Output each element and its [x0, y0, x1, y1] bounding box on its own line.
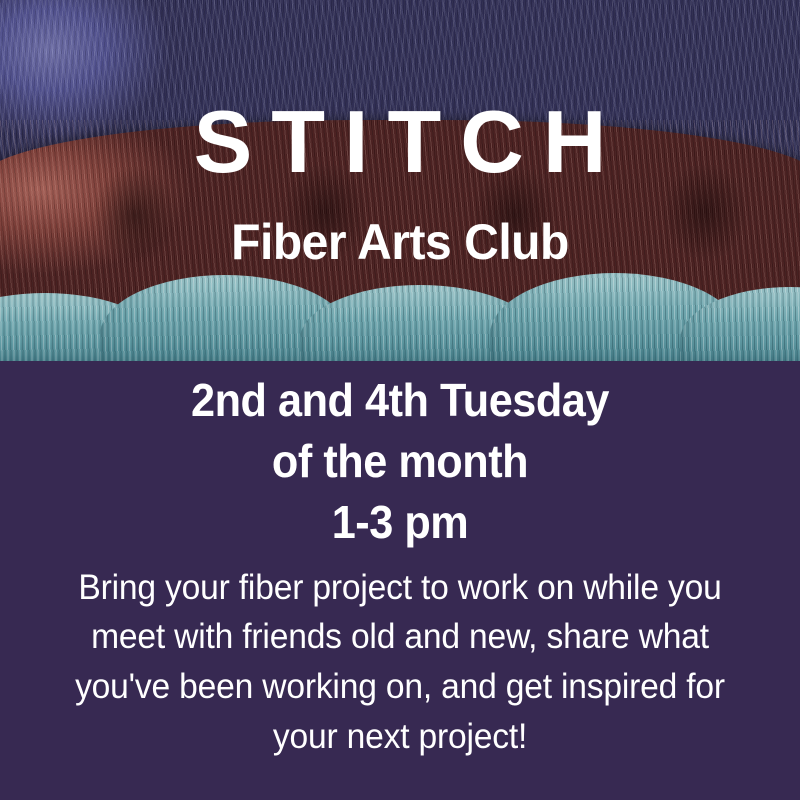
yarn-skein-teal	[680, 287, 800, 361]
description-text: Bring your fiber project to work on whil…	[16, 554, 784, 762]
schedule-list: 2nd and 4th Tuesday of the month 1-3 pm	[24, 361, 776, 554]
yarn-skeins-teal	[0, 278, 800, 361]
schedule-line-time: 1-3 pm	[24, 492, 776, 553]
poster-subtitle: Fiber Arts Club	[16, 215, 784, 270]
schedule-line-month: of the month	[24, 431, 776, 492]
poster: STITCH Fiber Arts Club 2nd and 4th Tuesd…	[0, 0, 800, 800]
schedule-line-days: 2nd and 4th Tuesday	[24, 370, 776, 431]
description-line: meet with friends old and new, share wha…	[60, 612, 740, 662]
poster-title: STITCH	[0, 98, 800, 186]
description-line: your next project!	[60, 712, 740, 762]
description-line: you've been working on, and get inspired…	[60, 662, 740, 712]
info-panel: 2nd and 4th Tuesday of the month 1-3 pm …	[0, 361, 800, 800]
description-line: Bring your fiber project to work on whil…	[60, 563, 740, 613]
